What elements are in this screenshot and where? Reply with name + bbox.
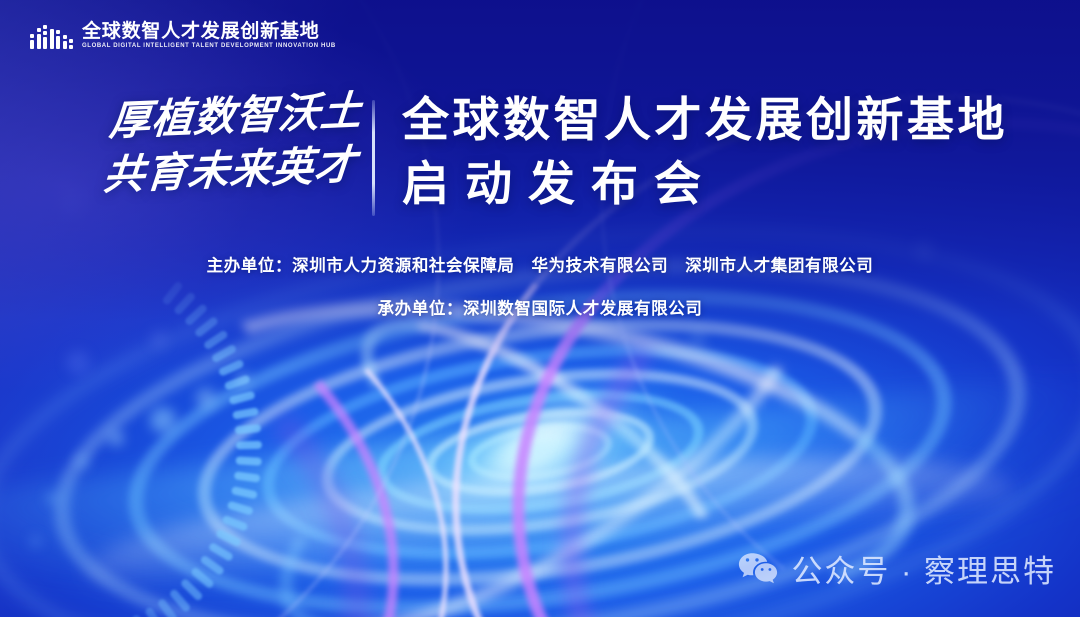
brand-logo-subtitle: GLOBAL DIGITAL INTELLIGENT TALENT DEVELO… [82, 43, 336, 50]
arc-tick [203, 329, 229, 350]
host-name-3: 深圳市人才集团有限公司 [685, 257, 873, 275]
purple-ribbon-left [0, 176, 441, 617]
bokeh-dot [46, 492, 58, 504]
vortex-ring [369, 372, 712, 533]
vortex-ring [464, 415, 615, 489]
brand-logo-text: 全球数智人才发展创新基地 GLOBAL DIGITAL INTELLIGENT … [82, 22, 336, 50]
bokeh-dot [150, 330, 168, 348]
arc-tick [211, 344, 238, 364]
arc-tick [208, 542, 234, 562]
arc-tick [234, 471, 261, 482]
brand-logo-title: 全球数智人才发展创新基地 [82, 22, 336, 42]
slogan-line-2: 共育未来英才 [102, 145, 356, 196]
host-name-1: 深圳市人力资源和社会保障局 [292, 257, 514, 275]
bokeh-dot [108, 430, 124, 446]
arc-tick [218, 359, 245, 377]
arc-tick [144, 606, 164, 617]
arc-tick [231, 486, 258, 499]
arc-tick [180, 578, 204, 602]
host-name-2: 华为技术有限公司 [531, 257, 668, 275]
cooperating-organizer-line: 承办单位：深圳数智国际人才发展有限公司 [0, 295, 1080, 319]
arc-tick [190, 566, 215, 589]
main-headline: 全球数智人才发展创新基地 启动发布会 [402, 95, 1008, 209]
arc-tick [221, 515, 248, 532]
coop-label: 承办单位： [378, 300, 464, 318]
host-organizers-line: 主办单位：深圳市人力资源和社会保障局华为技术有限公司深圳市人才集团有限公司 [0, 252, 1080, 276]
equalizer-bars-icon [30, 23, 73, 49]
bokeh-dot [690, 330, 706, 346]
bokeh-dot [76, 455, 89, 468]
vortex-core-glow [374, 328, 705, 570]
wechat-watermark: 公众号 · 察理思特 [738, 546, 1056, 591]
arc-tick [194, 316, 219, 338]
vortex-ring [311, 344, 768, 560]
vortex-core-highlight [469, 402, 600, 495]
arc-tick [236, 441, 262, 450]
arc-tick [224, 374, 251, 390]
arc-tick [235, 424, 262, 435]
calligraphy-slogan: 厚植数智沃土 共育未来英才 [104, 96, 354, 191]
headline-line-1: 全球数智人才发展创新基地 [402, 95, 1008, 146]
vortex-ring [420, 395, 659, 508]
poster-canvas: 全球数智人才发展创新基地 GLOBAL DIGITAL INTELLIGENT … [0, 0, 1080, 617]
bokeh-dot [58, 186, 88, 216]
arc-tick [157, 598, 179, 617]
arc-tick [235, 456, 261, 465]
bokeh-dot [66, 350, 90, 374]
arc-tick [215, 529, 242, 548]
coop-name-1: 深圳数智国际人才发展有限公司 [463, 300, 702, 318]
slogan-line-1: 厚植数智沃土 [108, 91, 356, 142]
headline-line-2: 启动发布会 [402, 158, 1008, 210]
brand-logo[interactable]: 全球数智人才发展创新基地 GLOBAL DIGITAL INTELLIGENT … [30, 22, 336, 50]
vortex-arm [324, 272, 756, 617]
bokeh-dot [236, 372, 250, 386]
host-label: 主办单位： [207, 257, 293, 275]
arc-tick [199, 554, 225, 576]
watermark-text: 公众号 · 察理思特 [791, 546, 1056, 591]
arc-tick [227, 501, 254, 516]
white-ribbon-left [0, 156, 492, 617]
arc-tick [232, 407, 259, 420]
bokeh-dot [30, 536, 41, 547]
arc-tick [228, 391, 255, 406]
vertical-divider [372, 100, 375, 216]
bokeh-dot [196, 388, 216, 408]
arc-tick [169, 588, 192, 613]
wechat-icon [738, 552, 778, 586]
bokeh-dot [150, 407, 176, 433]
